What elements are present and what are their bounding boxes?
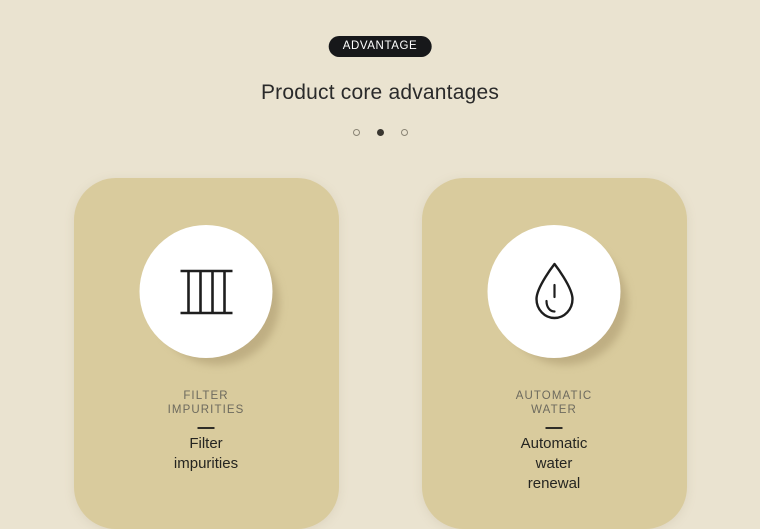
card-title-line1: Filter [74, 434, 339, 454]
icon-circle-face [488, 225, 621, 358]
pagination-dot-2[interactable] [377, 129, 384, 136]
section-badge: ADVANTAGE [329, 36, 432, 57]
card-eng-label-line1: AUTOMATIC [422, 389, 687, 403]
pagination-dot-1[interactable] [353, 129, 360, 136]
icon-circle [140, 225, 273, 358]
icon-circle [488, 225, 621, 358]
card-eng-label-line1: FILTER [74, 389, 339, 403]
card-title-line2: water [422, 454, 687, 474]
card-eng-label-line2: IMPURITIES [74, 403, 339, 417]
page-title: Product core advantages [0, 81, 760, 105]
card-eng-label: AUTOMATIC WATER [422, 389, 687, 417]
card-eng-label: FILTER IMPURITIES [74, 389, 339, 417]
advantage-card-automatic-water[interactable]: AUTOMATIC WATER Automatic water renewal [422, 178, 687, 529]
pagination-dot-3[interactable] [401, 129, 408, 136]
pagination-dots[interactable] [0, 129, 760, 136]
card-title-line3: renewal [422, 474, 687, 494]
advantage-section: ADVANTAGE Product core advantages [0, 0, 760, 529]
advantage-card-list: FILTER IMPURITIES Filter impurities [0, 178, 760, 529]
card-title-line1: Automatic [422, 434, 687, 454]
advantage-card-filter-impurities[interactable]: FILTER IMPURITIES Filter impurities [74, 178, 339, 529]
icon-circle-face [140, 225, 273, 358]
card-eng-label-line2: WATER [422, 403, 687, 417]
card-divider [198, 427, 215, 429]
card-divider [546, 427, 563, 429]
card-title: Automatic water renewal [422, 434, 687, 494]
filter-bars-icon [178, 263, 234, 321]
card-title-line2: impurities [74, 454, 339, 474]
water-drop-icon [531, 261, 577, 323]
card-title: Filter impurities [74, 434, 339, 474]
